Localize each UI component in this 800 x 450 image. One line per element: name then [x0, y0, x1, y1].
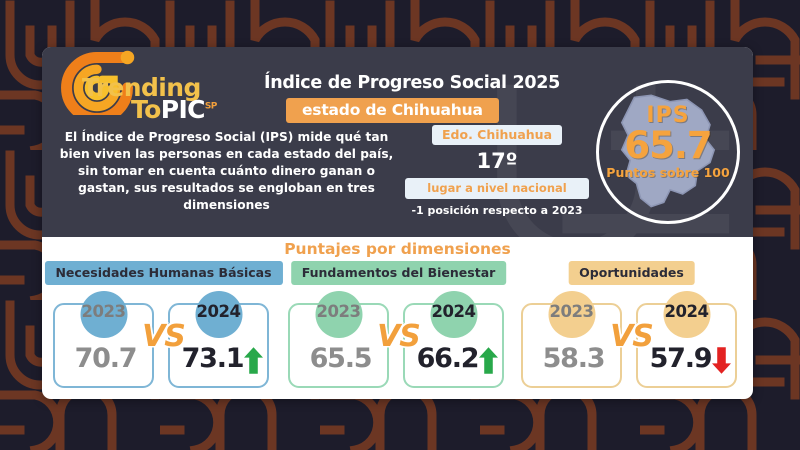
brand-logo: Trending ToPICSP — [54, 49, 234, 134]
logo-trademark: SP — [205, 102, 217, 112]
ips-unit: Puntos sobre 100 — [599, 166, 737, 179]
dimension-block-3: Oportunidades202358.3202457.9VS — [515, 261, 748, 399]
ips-value: 65.7 — [599, 128, 737, 164]
subtitle-badge: estado de Chihuahua — [286, 98, 499, 123]
versus-label: VS — [610, 319, 653, 354]
year-label: 2024 — [665, 302, 709, 321]
year-label: 2024 — [432, 302, 476, 321]
rank-sublabel: lugar a nivel nacional — [405, 178, 588, 199]
arrow-up-icon — [479, 347, 498, 374]
intro-paragraph: El Índice de Progreso Social (IPS) mide … — [54, 129, 399, 214]
logo-word-topic: ToPICSP — [131, 95, 217, 124]
dimension-header: Oportunidades — [568, 261, 695, 285]
dimension-comparison: 202358.3202457.9VS — [515, 293, 748, 399]
year-label: 2023 — [550, 302, 594, 321]
dimensions-section-title: Puntajes por dimensiones — [42, 240, 753, 258]
page-subtitle: estado de Chihuahua — [302, 101, 483, 119]
arrow-up-icon — [244, 347, 263, 374]
score-value: 58.3 — [523, 343, 624, 374]
arrow-down-icon — [712, 347, 731, 374]
score-box-2023: 202358.3 — [521, 303, 622, 388]
ips-text-group: IPS 65.7 Puntos sobre 100 — [599, 83, 737, 221]
dimensions-row: Necesidades Humanas Básicas202370.720247… — [42, 261, 753, 399]
infographic-card: Trending ToPICSP Índice de Progreso Soci… — [42, 47, 753, 399]
versus-label: VS — [377, 319, 420, 354]
logo-word-pic: PIC — [161, 95, 205, 124]
ips-score-circle: IPS 65.7 Puntos sobre 100 — [596, 80, 740, 224]
rank-value: 17º — [402, 149, 592, 173]
year-label: 2024 — [197, 302, 241, 321]
dimension-header: Fundamentos del Bienestar — [291, 261, 507, 285]
versus-label: VS — [142, 319, 185, 354]
logo-word-to: To — [131, 95, 161, 124]
dimension-comparison: 202370.7202473.1VS — [47, 293, 280, 399]
dimension-block-1: Necesidades Humanas Básicas202370.720247… — [47, 261, 280, 399]
national-rank-block: Edo. Chihuahua 17º lugar a nivel naciona… — [402, 125, 592, 217]
score-value: 70.7 — [55, 343, 156, 374]
year-label: 2023 — [82, 302, 126, 321]
score-box-2023: 202365.5 — [288, 303, 389, 388]
dimension-header: Necesidades Humanas Básicas — [44, 261, 282, 285]
score-value: 65.5 — [290, 343, 391, 374]
dimension-comparison: 202365.5202466.2VS — [282, 293, 515, 399]
page-title: Índice de Progreso Social 2025 — [242, 73, 582, 93]
score-box-2023: 202370.7 — [53, 303, 154, 388]
year-label: 2023 — [317, 302, 361, 321]
rank-change-note: -1 posición respecto a 2023 — [402, 204, 592, 217]
state-badge: Edo. Chihuahua — [432, 125, 562, 145]
dimension-block-2: Fundamentos del Bienestar202365.5202466.… — [282, 261, 515, 399]
